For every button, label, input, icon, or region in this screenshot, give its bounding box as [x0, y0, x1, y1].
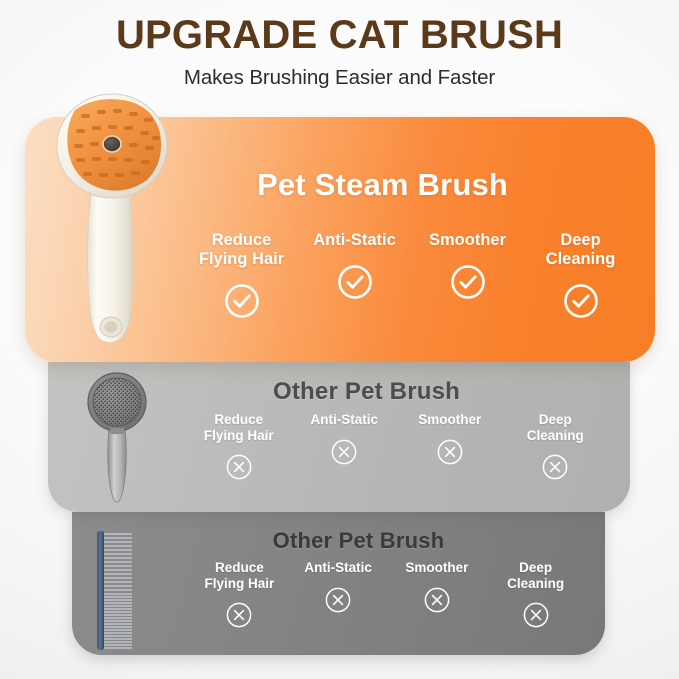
feature-row-other-2: Reduce Flying Hair Anti-Static Smoother …	[190, 560, 585, 629]
brush-handle	[88, 186, 133, 343]
cross-icon	[324, 586, 352, 614]
cross-icon	[522, 601, 550, 629]
cross-icon	[423, 586, 451, 614]
feature-label: Smoother	[388, 560, 487, 576]
card-other-pet-brush-2: Other Pet Brush Reduce Flying Hair Anti-…	[72, 512, 605, 655]
slicker-brush-icon	[72, 368, 162, 508]
feature-reduce-flying-hair: Reduce Flying Hair	[186, 412, 292, 481]
feature-row-steam: Reduce Flying Hair Anti-Static Smoother …	[185, 231, 637, 320]
feature-label: Reduce Flying Hair	[185, 231, 298, 269]
feature-label: Anti-Static	[292, 412, 398, 428]
feature-label: Deep Cleaning	[524, 231, 637, 269]
feature-smoother: Smoother	[397, 412, 503, 481]
check-icon	[223, 282, 261, 320]
feature-label: Deep Cleaning	[486, 560, 585, 591]
feature-deep-cleaning: Deep Cleaning	[486, 560, 585, 629]
check-icon	[336, 263, 374, 301]
feature-anti-static: Anti-Static	[289, 560, 388, 629]
cross-icon	[541, 453, 569, 481]
comb-teeth	[104, 534, 132, 648]
feature-label: Reduce Flying Hair	[190, 560, 289, 591]
brush-head	[57, 94, 167, 198]
feature-label: Reduce Flying Hair	[186, 412, 292, 443]
feature-label: Deep Cleaning	[503, 412, 609, 443]
check-icon	[562, 282, 600, 320]
steam-brush-icon	[45, 88, 180, 358]
feature-label: Anti-Static	[289, 560, 388, 576]
feature-smoother: Smoother	[388, 560, 487, 629]
comb-spine	[97, 531, 104, 650]
page-header: UPGRADE CAT BRUSH Makes Brushing Easier …	[0, 0, 679, 90]
page-title: UPGRADE CAT BRUSH	[0, 14, 679, 57]
feature-anti-static: Anti-Static	[298, 231, 411, 320]
feature-anti-static: Anti-Static	[292, 412, 398, 481]
cross-icon	[225, 601, 253, 629]
check-icon	[449, 263, 487, 301]
page-subtitle: Makes Brushing Easier and Faster	[0, 66, 679, 90]
feature-deep-cleaning: Deep Cleaning	[503, 412, 609, 481]
card-title-other-2: Other Pet Brush	[72, 528, 605, 554]
feature-row-other-1: Reduce Flying Hair Anti-Static Smoother …	[186, 412, 608, 481]
feature-smoother: Smoother	[411, 231, 524, 320]
cross-icon	[436, 438, 464, 466]
feature-label: Anti-Static	[298, 231, 411, 250]
cross-icon	[225, 453, 253, 481]
feature-label: Smoother	[397, 412, 503, 428]
feature-reduce-flying-hair: Reduce Flying Hair	[185, 231, 298, 320]
slicker-handle	[108, 426, 127, 502]
cross-icon	[330, 438, 358, 466]
steel-comb-icon	[88, 528, 148, 653]
feature-label: Smoother	[411, 231, 524, 250]
feature-reduce-flying-hair: Reduce Flying Hair	[190, 560, 289, 629]
feature-deep-cleaning: Deep Cleaning	[524, 231, 637, 320]
